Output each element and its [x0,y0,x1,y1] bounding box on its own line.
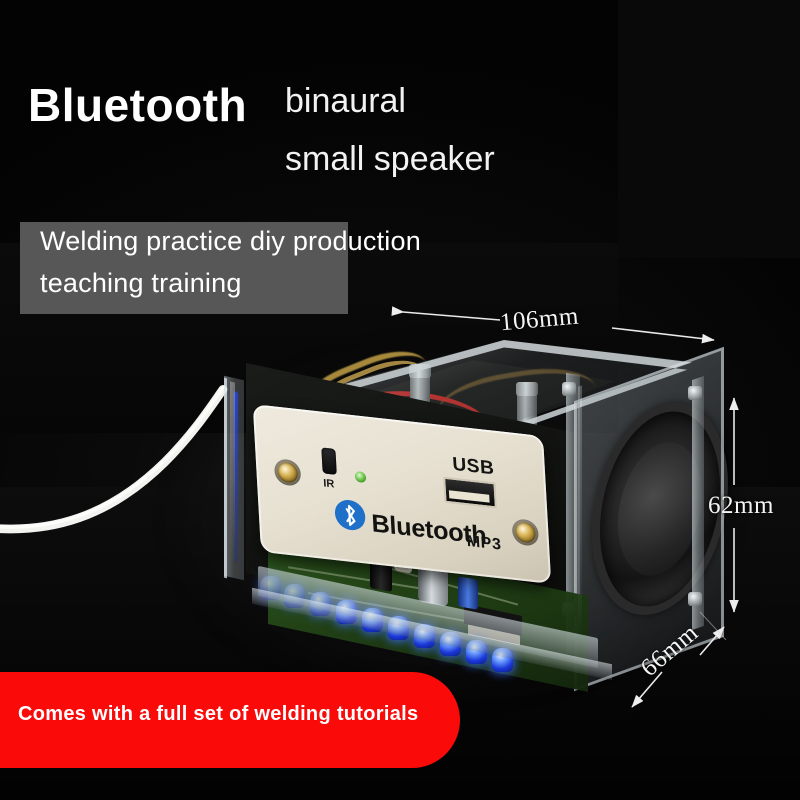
usb-label: USB [452,454,495,481]
ir-receiver-window [321,447,337,475]
mp3-label: MP3 [466,533,502,555]
acrylic-enclosure: IR Bluetooth USB MP3 [222,340,712,690]
corner-nut-1 [688,386,702,400]
acrylic-highlight-1 [230,381,235,562]
red-banner-text: Comes with a full set of welding tutoria… [18,703,418,726]
usb-cable [0,370,250,540]
ir-label: IR [323,477,335,490]
bluetooth-rune-icon [341,503,359,528]
corner-nut-3 [562,382,576,396]
usb-port-tongue [449,490,490,502]
dimension-label-height: 62mm [708,492,774,520]
acrylic-highlight-2 [578,385,582,636]
acrylic-left-edge [224,378,227,579]
corner-nut-2 [688,592,702,606]
product-image: Bluetooth binaural small speaker Welding… [0,0,800,800]
capacitor-blue [458,576,478,610]
